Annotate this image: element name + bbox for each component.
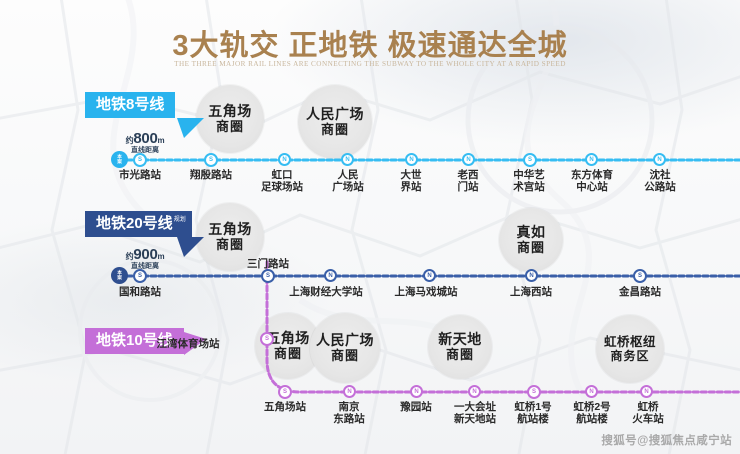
district-badge-xintiandi: 新天地 商圈 <box>428 315 492 379</box>
station-node[interactable]: S <box>133 269 147 283</box>
page-subtitle: THE THREE MAJOR RAIL LINES ARE CONNECTIN… <box>0 60 740 68</box>
station-node[interactable]: S <box>278 385 292 399</box>
station-node[interactable]: N <box>405 153 418 166</box>
station-node[interactable]: N <box>341 153 354 166</box>
district-suffix: 商圈 <box>321 122 349 137</box>
station-node[interactable]: S <box>633 269 647 283</box>
district-name: 五角场 <box>208 104 252 119</box>
station-label: 三门路站 <box>228 258 308 270</box>
station-node[interactable]: N <box>585 153 598 166</box>
district-name: 新天地 <box>438 332 482 347</box>
district-name: 虹桥枢纽 <box>604 336 656 349</box>
station-node[interactable]: N <box>410 385 423 398</box>
district-name: 人民广场 <box>306 107 364 122</box>
distance-value: 约800m <box>110 131 180 146</box>
station-label: 国和路站 <box>100 286 180 298</box>
station-node[interactable]: S <box>204 153 218 167</box>
district-suffix: 商务区 <box>610 349 649 363</box>
district-name: 五角场 <box>208 222 252 237</box>
station-label: 市光路站 <box>100 169 180 181</box>
distance-unit: m <box>158 252 165 261</box>
station-label: 上海马戏城站 <box>371 286 481 298</box>
distance-number: 800 <box>133 130 157 147</box>
station-node[interactable]: S <box>260 332 274 346</box>
transit-map-poster: 3大轨交 正地铁 极速通达全城 THE THREE MAJOR RAIL LIN… <box>0 0 740 454</box>
station-label: 虹口 足球场站 <box>246 169 318 193</box>
station-node[interactable]: S <box>133 153 147 167</box>
station-node[interactable]: N <box>653 153 666 166</box>
station-node[interactable]: N <box>462 153 475 166</box>
station-label: 上海财经大学站 <box>264 286 388 298</box>
origin-marker-line20: 本案 <box>111 267 128 284</box>
station-node[interactable]: N <box>423 269 436 282</box>
district-name: 真如 <box>517 225 546 240</box>
station-label: 江湾体育场站 <box>133 338 243 350</box>
station-node[interactable]: N <box>640 385 653 398</box>
district-suffix: 商圈 <box>331 348 359 363</box>
station-node[interactable]: S <box>523 153 537 167</box>
line-flag-label: 地铁8号线 <box>96 96 164 113</box>
district-suffix: 商圈 <box>446 347 474 362</box>
line-flag-label: 地铁20号线 <box>96 215 173 232</box>
district-badge-renminguangchang-line10: 人民广场 商圈 <box>310 313 380 383</box>
origin-label: 本案 <box>117 271 122 280</box>
station-label: 虹桥 火车站 <box>613 401 683 425</box>
station-label: 翔殷路站 <box>171 169 251 181</box>
line-flag-note: 规划 <box>174 217 181 223</box>
origin-marker-line8: 本案 <box>111 151 128 168</box>
station-label: 人民 广场站 <box>312 169 384 193</box>
station-label: 南京 东路站 <box>312 401 386 425</box>
district-badge-zhenru: 真如 商圈 <box>499 208 563 272</box>
station-node[interactable]: S <box>261 269 275 283</box>
district-suffix: 商圈 <box>274 346 302 361</box>
line-flag-line20[interactable]: 地铁20号线规划 <box>85 211 192 237</box>
station-node[interactable]: N <box>468 385 481 398</box>
station-label: 沈社 公路站 <box>622 169 698 193</box>
district-badge-renminguangchang-line8: 人民广场 商圈 <box>298 85 372 159</box>
district-badge-wujiaochang-line8: 五角场 商圈 <box>196 85 264 153</box>
station-label: 金昌路站 <box>598 286 682 298</box>
district-suffix: 商圈 <box>216 119 244 134</box>
station-label: 东方体育 中心站 <box>551 169 633 193</box>
district-badge-hongqiaoshuniu: 虹桥枢纽 商务区 <box>596 315 664 383</box>
district-name: 人民广场 <box>316 333 374 348</box>
station-label: 上海西站 <box>485 286 577 298</box>
distance-unit: m <box>158 136 165 145</box>
line-flag-line8[interactable]: 地铁8号线 <box>85 92 175 118</box>
page-title: 3大轨交 正地铁 极速通达全城 <box>0 22 740 64</box>
distance-number: 900 <box>133 246 157 263</box>
origin-label: 本案 <box>117 155 122 164</box>
watermark: 搜狐号@搜狐焦点咸宁站 <box>601 432 732 448</box>
district-suffix: 商圈 <box>216 237 244 252</box>
station-node[interactable]: S <box>527 385 541 399</box>
distance-value: 约900m <box>110 247 180 262</box>
station-node[interactable]: N <box>343 385 356 398</box>
station-node[interactable]: N <box>324 269 337 282</box>
station-node[interactable]: N <box>278 153 291 166</box>
district-suffix: 商圈 <box>517 240 545 255</box>
station-node[interactable]: N <box>525 269 538 282</box>
station-node[interactable]: N <box>585 385 598 398</box>
